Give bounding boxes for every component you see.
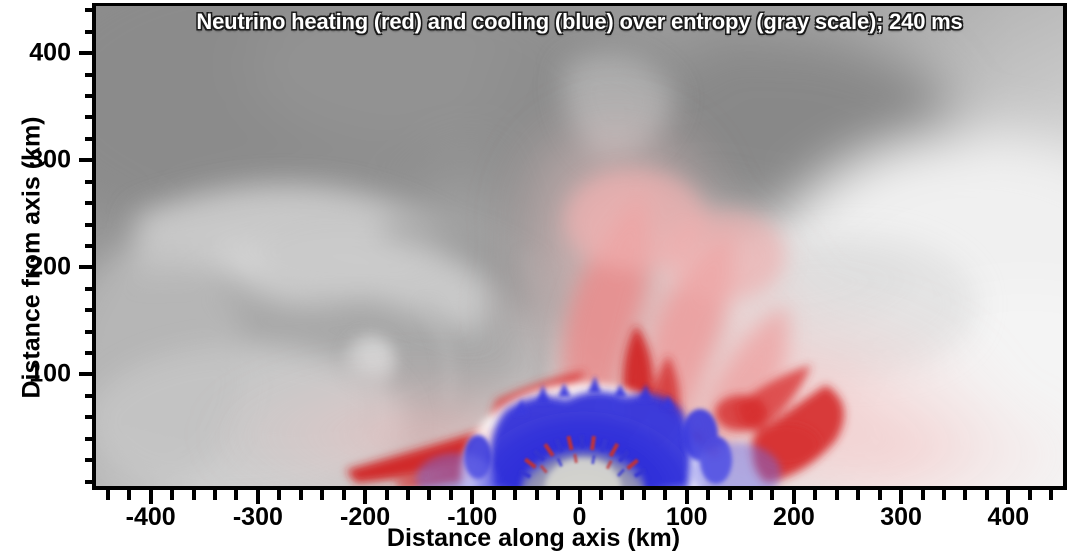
y-tick-major	[79, 372, 96, 376]
x-axis-title: Distance along axis (km)	[0, 524, 1067, 553]
y-tick-minor	[85, 137, 96, 141]
x-tick-minor	[449, 489, 453, 500]
plot-area	[96, 5, 1063, 488]
x-tick-minor	[127, 489, 131, 500]
axis-right-spine	[1063, 3, 1067, 490]
x-tick-minor	[170, 489, 174, 500]
y-tick-minor	[85, 201, 96, 205]
x-tick-minor	[299, 489, 303, 500]
x-tick-minor	[856, 489, 860, 500]
y-tick-minor	[85, 330, 96, 334]
x-tick-minor	[234, 489, 238, 500]
x-tick-minor	[1049, 489, 1053, 500]
y-tick-minor	[85, 287, 96, 291]
x-tick-minor	[706, 489, 710, 500]
x-tick-minor	[213, 489, 217, 500]
x-tick-minor	[535, 489, 539, 500]
x-tick-minor	[878, 489, 882, 500]
x-tick-minor	[642, 489, 646, 500]
x-tick-major	[685, 489, 689, 504]
y-tick-minor	[85, 458, 96, 462]
x-tick-minor	[749, 489, 753, 500]
x-tick-minor	[427, 489, 431, 500]
y-axis-ticks: 100200300400	[79, 0, 96, 553]
x-tick-minor	[106, 489, 110, 500]
y-tick-minor	[85, 180, 96, 184]
y-tick-minor	[85, 8, 96, 12]
x-tick-major	[792, 489, 796, 504]
x-tick-minor	[813, 489, 817, 500]
y-tick-major	[79, 51, 96, 55]
x-tick-major	[363, 489, 367, 504]
x-tick-minor	[385, 489, 389, 500]
x-tick-minor	[921, 489, 925, 500]
x-tick-minor	[1028, 489, 1032, 500]
y-tick-minor	[85, 73, 96, 77]
y-tick-minor	[85, 223, 96, 227]
y-axis-title: Distance from axis (km)	[18, 13, 47, 503]
y-tick-minor	[85, 308, 96, 312]
x-tick-minor	[942, 489, 946, 500]
y-tick-minor	[85, 115, 96, 119]
x-tick-major	[899, 489, 903, 504]
x-tick-major	[578, 489, 582, 504]
x-tick-major	[149, 489, 153, 504]
y-tick-minor	[85, 351, 96, 355]
y-tick-minor	[85, 415, 96, 419]
x-tick-minor	[342, 489, 346, 500]
x-tick-minor	[963, 489, 967, 500]
x-tick-minor	[406, 489, 410, 500]
x-tick-minor	[728, 489, 732, 500]
axis-top-spine	[92, 3, 1067, 6]
y-tick-major	[79, 265, 96, 269]
y-tick-minor	[85, 394, 96, 398]
x-tick-major	[256, 489, 260, 504]
x-tick-major	[470, 489, 474, 504]
x-tick-minor	[985, 489, 989, 500]
y-tick-minor	[85, 437, 96, 441]
y-tick-major	[79, 158, 96, 162]
x-tick-minor	[513, 489, 517, 500]
x-tick-minor	[277, 489, 281, 500]
x-tick-minor	[320, 489, 324, 500]
x-tick-minor	[599, 489, 603, 500]
x-tick-minor	[835, 489, 839, 500]
figure-root: Neutrino heating (red) and cooling (blue…	[0, 0, 1067, 553]
x-tick-minor	[556, 489, 560, 500]
x-tick-major	[1006, 489, 1010, 504]
x-tick-minor	[620, 489, 624, 500]
y-tick-minor	[85, 244, 96, 248]
y-tick-minor	[85, 30, 96, 34]
proto-neutron-star-core	[96, 5, 1063, 488]
x-tick-minor	[770, 489, 774, 500]
y-tick-minor	[85, 94, 96, 98]
x-tick-minor	[492, 489, 496, 500]
x-tick-minor	[663, 489, 667, 500]
y-tick-minor	[85, 480, 96, 484]
x-tick-minor	[192, 489, 196, 500]
